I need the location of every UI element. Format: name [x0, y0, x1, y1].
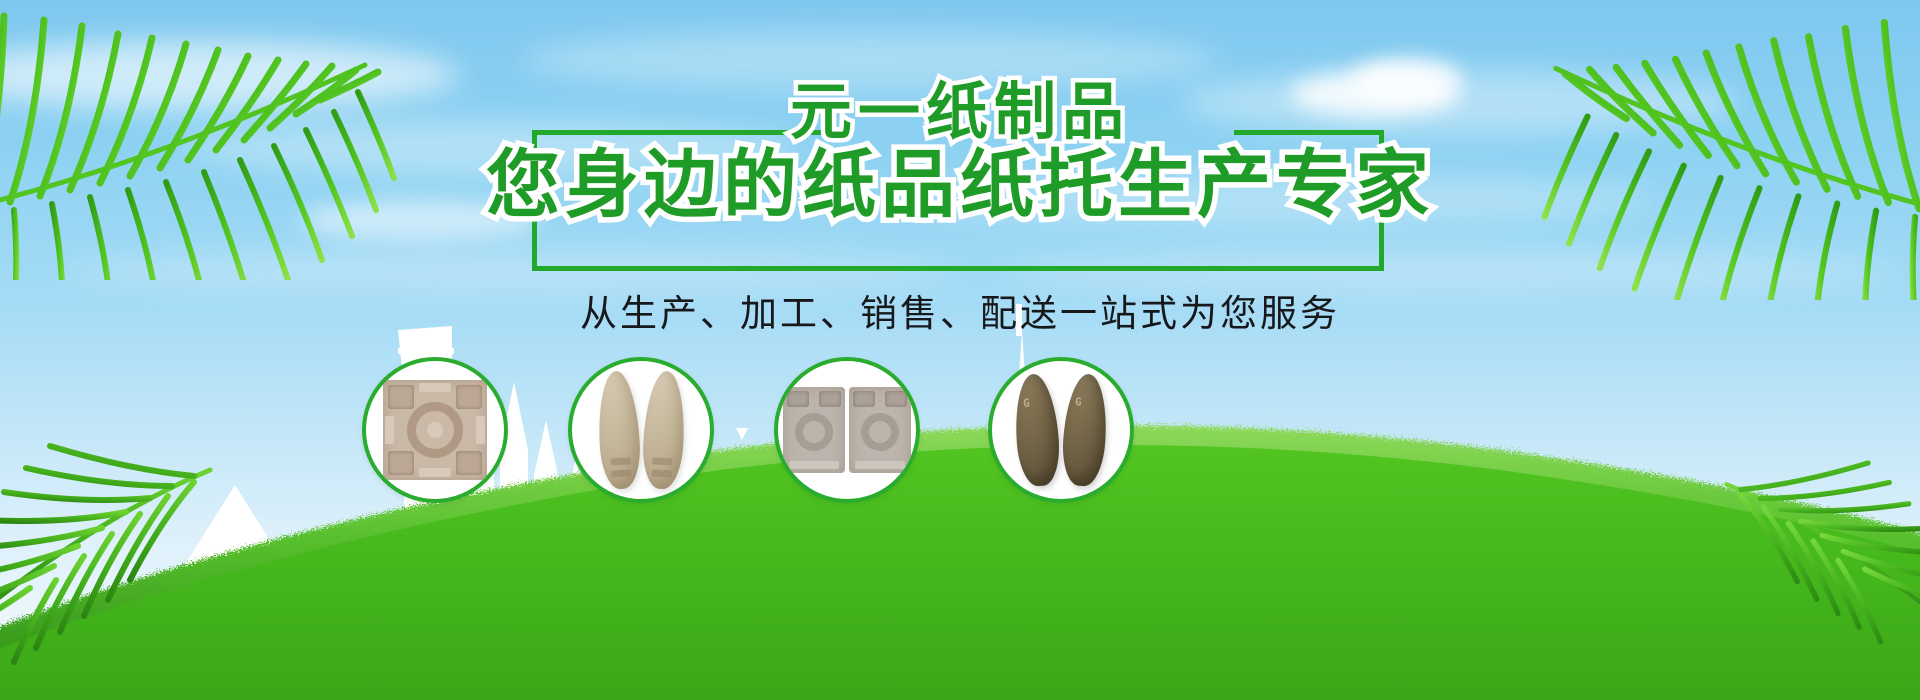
- promo-banner: 元一纸制品 您身边的纸品纸托生产专家 从生产、加工、销售、配送一站式为您服务: [0, 0, 1920, 700]
- headline-secondary: 您身边的纸品纸托生产专家: [0, 148, 1920, 222]
- subtitle-text: 从生产、加工、销售、配送一站式为您服务: [0, 292, 1920, 336]
- product-image-1: [383, 380, 487, 480]
- green-hill: [0, 300, 1920, 700]
- product-image-3: [783, 387, 911, 473]
- product-circle-2[interactable]: [568, 357, 714, 503]
- headline-primary: 元一纸制品: [0, 82, 1920, 144]
- product-circle-3[interactable]: [774, 357, 920, 503]
- product-circle-4[interactable]: G G: [988, 357, 1134, 503]
- product-circle-1[interactable]: [362, 357, 508, 503]
- product-image-2: [599, 371, 684, 489]
- product-image-4: G G: [1016, 374, 1106, 486]
